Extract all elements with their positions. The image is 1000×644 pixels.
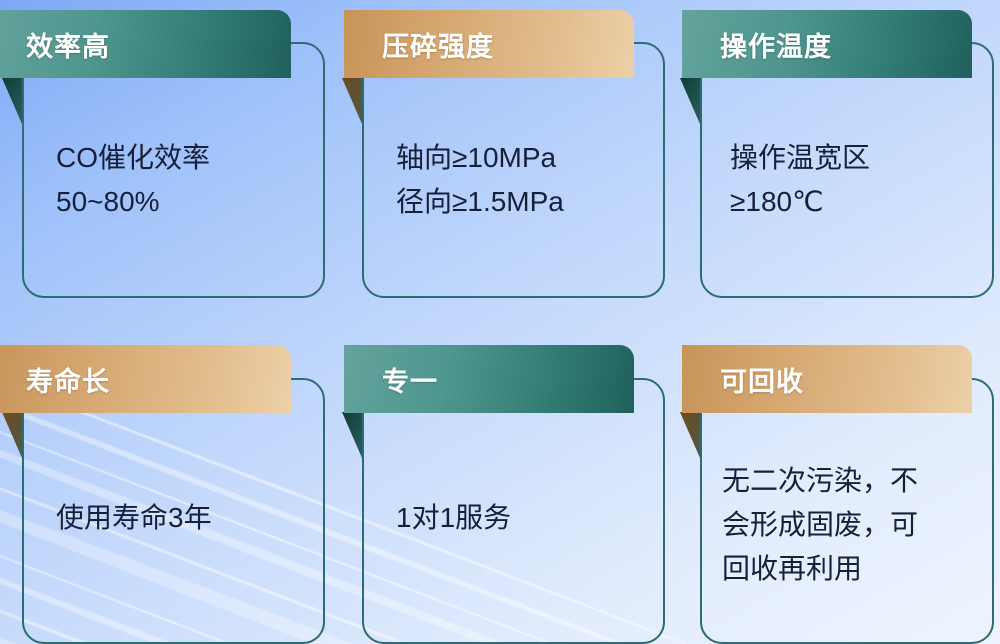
card-line: 1对1服务 (396, 496, 646, 540)
card-title-operating-temperature: 操作温度 (720, 25, 832, 64)
card-title-dedicated-service: 专一 (382, 360, 438, 399)
ribbon-fold-crush-strength (342, 78, 362, 124)
card-banner-long-lifespan: 寿命长 (0, 345, 291, 413)
card-line: 无二次污染，不 (722, 459, 992, 503)
ribbon-fold-long-lifespan (2, 412, 22, 458)
card-body-recyclable: 无二次污染，不 会形成固废，可 回收再利用 (722, 450, 992, 600)
ribbon-fold-dedicated-service (342, 412, 362, 458)
card-body-operating-temperature: 操作温宽区 ≥180℃ (730, 120, 980, 240)
card-line: 50~80% (56, 180, 306, 224)
card-body-crush-strength: 轴向≥10MPa 径向≥1.5MPa (396, 120, 658, 240)
card-line: CO催化效率 (56, 136, 306, 180)
card-banner-recyclable: 可回收 (682, 345, 972, 413)
card-line: 会形成固废，可 (722, 503, 992, 547)
card-line: 径向≥1.5MPa (396, 180, 658, 224)
card-line: 操作温宽区 (730, 136, 980, 180)
card-title-recyclable: 可回收 (720, 360, 804, 399)
card-title-crush-strength: 压碎强度 (382, 25, 494, 64)
ribbon-fold-efficiency (2, 78, 22, 124)
card-title-long-lifespan: 寿命长 (26, 360, 110, 399)
card-banner-dedicated-service: 专一 (344, 345, 634, 413)
card-body-long-lifespan: 使用寿命3年 (56, 478, 306, 558)
card-body-dedicated-service: 1对1服务 (396, 478, 646, 558)
card-banner-crush-strength: 压碎强度 (344, 10, 634, 78)
ribbon-fold-recyclable (680, 412, 700, 458)
card-banner-efficiency: 效率高 (0, 10, 291, 78)
card-body-efficiency: CO催化效率 50~80% (56, 120, 306, 240)
card-line: 轴向≥10MPa (396, 136, 658, 180)
infographic-canvas: 效率高 CO催化效率 50~80% 压碎强度 轴向≥10MPa 径向≥1.5MP… (0, 0, 1000, 644)
card-title-efficiency: 效率高 (26, 25, 110, 64)
card-line: 使用寿命3年 (56, 496, 306, 540)
card-line: ≥180℃ (730, 180, 980, 224)
ribbon-fold-operating-temperature (680, 78, 700, 124)
card-line: 回收再利用 (722, 547, 992, 591)
card-banner-operating-temperature: 操作温度 (682, 10, 972, 78)
